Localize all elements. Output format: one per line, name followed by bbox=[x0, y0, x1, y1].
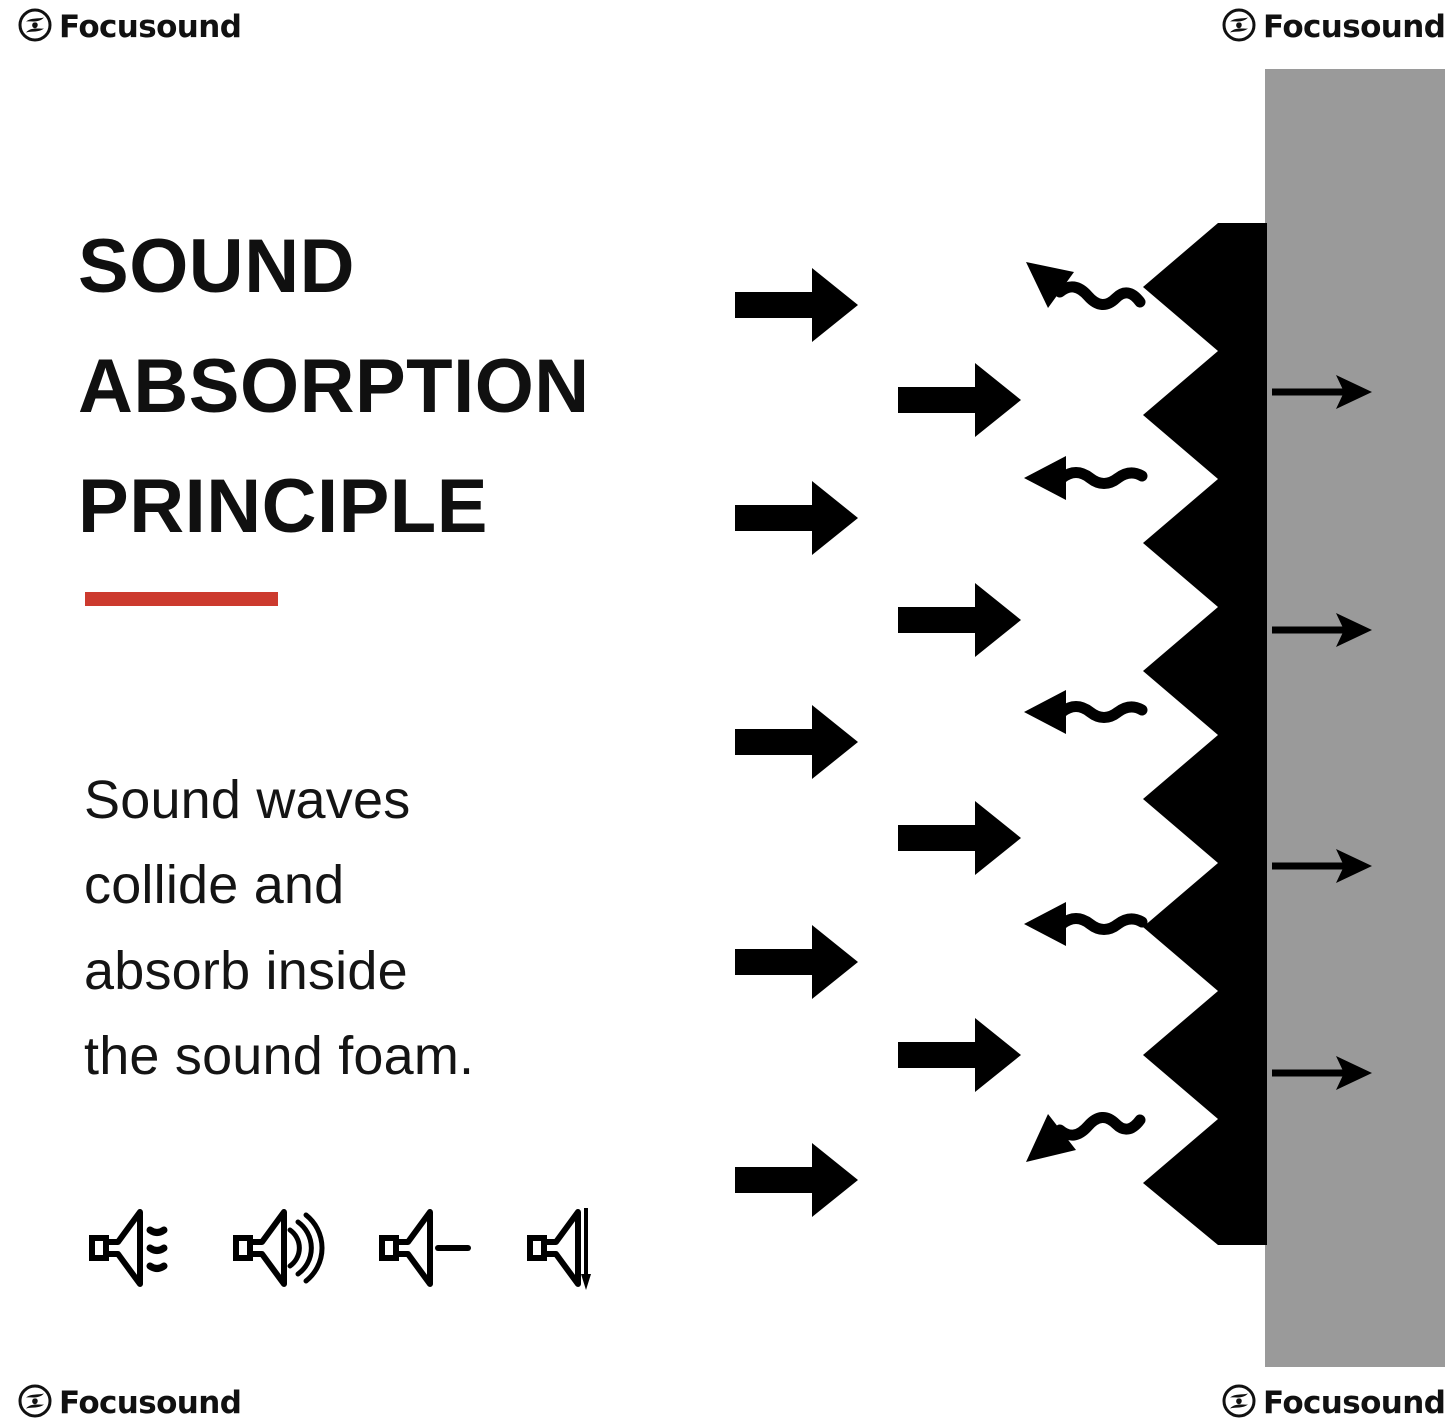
wavy-arrow-left bbox=[1024, 456, 1142, 500]
title-divider-rule bbox=[85, 592, 278, 606]
focusound-circular-swirl-logo-icon bbox=[1222, 1384, 1256, 1423]
page-title: SOUND ABSORPTION PRINCIPLE bbox=[78, 207, 698, 567]
speaker-with-sound-waves-icon bbox=[226, 1198, 326, 1303]
brand-name: Focusound bbox=[1263, 1388, 1445, 1419]
wavy-arrow-up-left bbox=[1026, 262, 1140, 308]
wavy-arrow-left bbox=[1024, 690, 1142, 734]
reflected-sound-wavy-arrows bbox=[1024, 262, 1142, 1162]
wall-panel bbox=[1265, 69, 1445, 1367]
brand-logo-top-left: Focusound bbox=[18, 8, 241, 47]
acoustic-foam-wedges bbox=[1143, 223, 1267, 1245]
brand-logo-bottom-left: Focusound bbox=[18, 1384, 241, 1423]
transmitted-sound-arrows bbox=[1272, 375, 1372, 1090]
speaker-with-vertical-arrow-icon bbox=[522, 1198, 622, 1303]
page-title-line-1: SOUND bbox=[78, 207, 698, 327]
speaker-icon-row bbox=[78, 1198, 622, 1303]
brand-name: Focusound bbox=[1263, 12, 1445, 43]
thin-arrow-right bbox=[1272, 375, 1372, 409]
brand-logo-bottom-right: Focusound bbox=[1222, 1384, 1445, 1423]
brand-logo-top-right: Focusound bbox=[1222, 8, 1445, 47]
wavy-arrow-down-left bbox=[1026, 1114, 1140, 1162]
incoming-sound-arrows-right-column bbox=[898, 363, 1021, 1092]
thin-arrow-right bbox=[1272, 613, 1372, 647]
page-title-line-3: PRINCIPLE bbox=[78, 447, 698, 567]
focusound-circular-swirl-logo-icon bbox=[1222, 8, 1256, 47]
speaker-with-dashes-icon bbox=[78, 1198, 178, 1303]
brand-name: Focusound bbox=[59, 12, 241, 43]
focusound-circular-swirl-logo-icon bbox=[18, 8, 52, 47]
page-title-line-2: ABSORPTION bbox=[78, 327, 698, 447]
incoming-sound-arrows-left-column bbox=[735, 268, 858, 1217]
speaker-with-line-icon bbox=[374, 1198, 474, 1303]
body-description: Sound waves collide and absorb inside th… bbox=[84, 758, 484, 1099]
thin-arrow-right bbox=[1272, 1056, 1372, 1090]
brand-name: Focusound bbox=[59, 1388, 241, 1419]
wavy-arrow-left bbox=[1024, 902, 1142, 946]
infographic-canvas: Focusound Focusound Focusound bbox=[0, 0, 1445, 1427]
focusound-circular-swirl-logo-icon bbox=[18, 1384, 52, 1423]
thin-arrow-right bbox=[1272, 849, 1372, 883]
